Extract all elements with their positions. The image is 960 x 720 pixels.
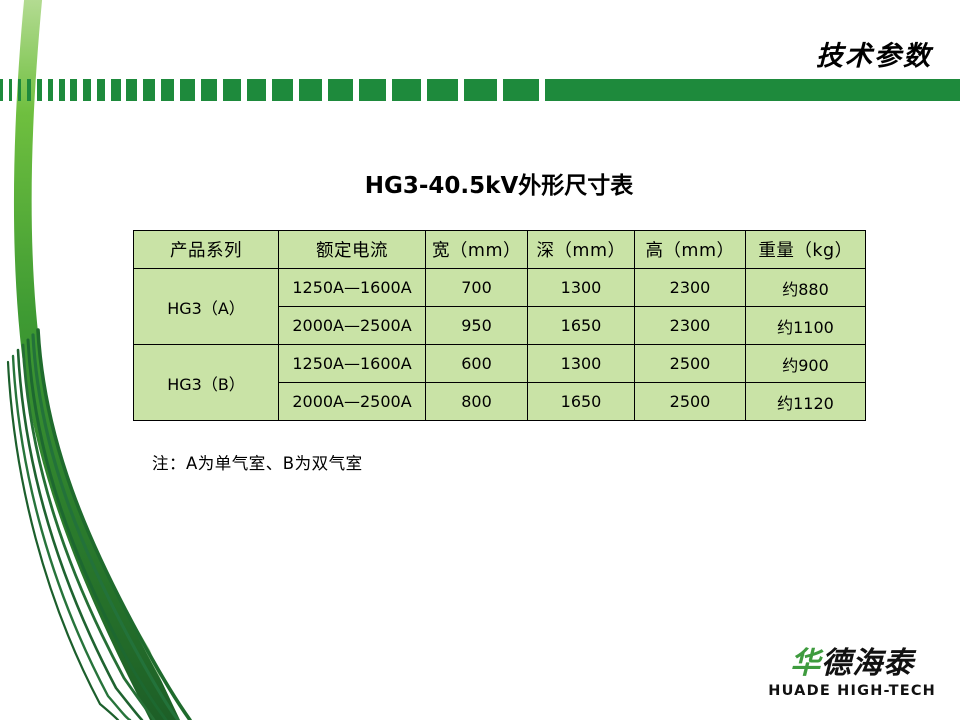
- cell-depth: 1650: [528, 383, 635, 421]
- column-header-current: 额定电流: [279, 231, 426, 269]
- slide-canvas: 技术参数 HG3-40.5kV外形尺寸表 产品系列 额定电流 宽（mm） 深（m…: [0, 0, 960, 720]
- dash-segment: [161, 79, 174, 101]
- table-header-row: 产品系列 额定电流 宽（mm） 深（mm） 高（mm） 重量（kg）: [134, 231, 866, 269]
- dash-segment: [272, 79, 293, 101]
- dash-segment: [97, 79, 106, 101]
- cell-height: 2300: [635, 307, 746, 345]
- cell-width: 950: [426, 307, 528, 345]
- dash-segment: [223, 79, 241, 101]
- dash-segment: [299, 79, 322, 101]
- cell-current: 1250A—1600A: [279, 345, 426, 383]
- cell-width: 800: [426, 383, 528, 421]
- dash-segment: [59, 79, 65, 101]
- page-title: 技术参数: [816, 34, 932, 73]
- dash-segment: [126, 79, 137, 101]
- logo-chars-rest: 德海泰: [821, 646, 914, 681]
- dash-segment: [359, 79, 386, 101]
- cell-current: 1250A—1600A: [279, 269, 426, 307]
- cell-width: 700: [426, 269, 528, 307]
- dash-segment: [37, 79, 42, 101]
- cell-depth: 1650: [528, 307, 635, 345]
- column-header-depth: 深（mm）: [528, 231, 635, 269]
- table-row: HG3（B） 1250A—1600A 600 1300 2500 约900: [134, 345, 866, 383]
- series-cell-b: HG3（B）: [134, 345, 279, 421]
- dash-segment: [70, 79, 77, 101]
- dash-segment: [48, 79, 53, 101]
- cell-height: 2300: [635, 269, 746, 307]
- dash-segment: [27, 79, 31, 101]
- dash-segment: [392, 79, 421, 101]
- column-header-weight: 重量（kg）: [746, 231, 866, 269]
- dash-segment: [0, 79, 3, 101]
- dash-segment: [18, 79, 22, 101]
- dash-segment: [328, 79, 353, 101]
- dash-segment: [247, 79, 267, 101]
- cell-current: 2000A—2500A: [279, 307, 426, 345]
- cell-weight: 约880: [746, 269, 866, 307]
- series-cell-a: HG3（A）: [134, 269, 279, 345]
- dash-segment: [180, 79, 195, 101]
- cell-height: 2500: [635, 383, 746, 421]
- dash-segment: [83, 79, 91, 101]
- top-solid-bar: [545, 79, 960, 101]
- table-row: HG3（A） 1250A—1600A 700 1300 2300 约880: [134, 269, 866, 307]
- cell-current: 2000A—2500A: [279, 383, 426, 421]
- dimensions-table: 产品系列 额定电流 宽（mm） 深（mm） 高（mm） 重量（kg） HG3（A…: [133, 230, 866, 421]
- table-note: 注：A为单气室、B为双气室: [152, 450, 363, 474]
- dash-segment: [201, 79, 217, 101]
- cell-weight: 约1120: [746, 383, 866, 421]
- top-dash-band: [0, 79, 960, 101]
- column-header-series: 产品系列: [134, 231, 279, 269]
- cell-height: 2500: [635, 345, 746, 383]
- logo-wordmark: 华德海泰: [768, 649, 936, 679]
- dash-segment: [9, 79, 12, 101]
- cell-weight: 约900: [746, 345, 866, 383]
- company-logo: 华德海泰 HUADE HIGH-TECH: [768, 649, 936, 699]
- table-heading: HG3-40.5kV外形尺寸表: [133, 166, 865, 200]
- cell-depth: 1300: [528, 345, 635, 383]
- column-header-height: 高（mm）: [635, 231, 746, 269]
- dash-segment: [503, 79, 539, 101]
- dash-segment: [464, 79, 498, 101]
- cell-width: 600: [426, 345, 528, 383]
- cell-depth: 1300: [528, 269, 635, 307]
- dash-segment: [427, 79, 458, 101]
- dash-segment: [143, 79, 155, 101]
- logo-subtitle: HUADE HIGH-TECH: [768, 684, 936, 699]
- dash-segment: [111, 79, 121, 101]
- cell-weight: 约1100: [746, 307, 866, 345]
- logo-char-hua: 华: [790, 646, 821, 681]
- column-header-width: 宽（mm）: [426, 231, 528, 269]
